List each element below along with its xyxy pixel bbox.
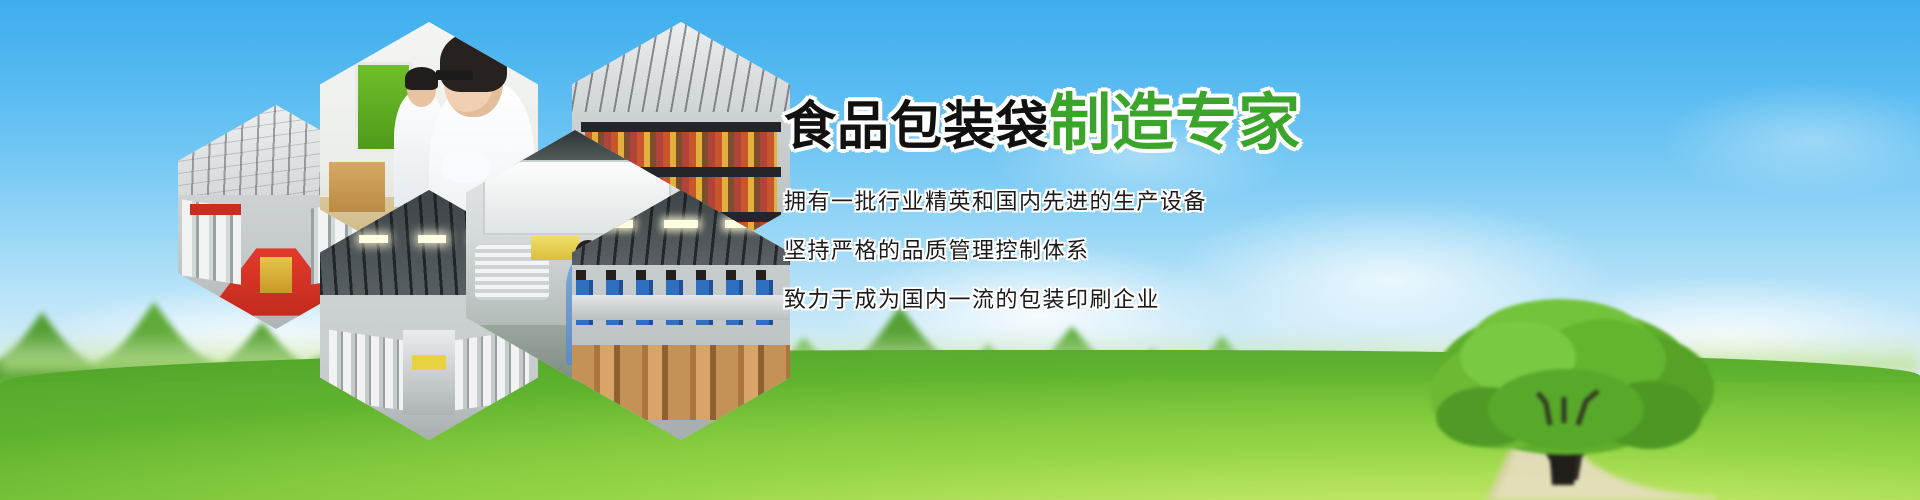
banner-subtitle-line-2: 坚持严格的品质管理控制体系: [784, 241, 1484, 263]
banner-subtitle-line-3: 致力于成为国内一流的包装印刷企业: [784, 290, 1484, 312]
hero-banner: 食品包装袋制造专家 拥有一批行业精英和国内先进的生产设备 坚持严格的品质管理控制…: [0, 0, 1920, 500]
headline-green-part: 制造专家: [1049, 86, 1301, 159]
banner-subtitle-line-1: 拥有一批行业精英和国内先进的生产设备: [784, 192, 1484, 214]
banner-subtitle-list: 拥有一批行业精英和国内先进的生产设备 坚持严格的品质管理控制体系 致力于成为国内…: [784, 192, 1484, 312]
banner-headline: 食品包装袋制造专家: [784, 92, 1484, 154]
banner-copy: 食品包装袋制造专家 拥有一批行业精英和国内先进的生产设备 坚持严格的品质管理控制…: [784, 92, 1484, 312]
headline-black-part: 食品包装袋: [784, 97, 1049, 157]
roadside-tree: [1400, 285, 1730, 500]
hexagon-photo-collage: [0, 0, 820, 400]
